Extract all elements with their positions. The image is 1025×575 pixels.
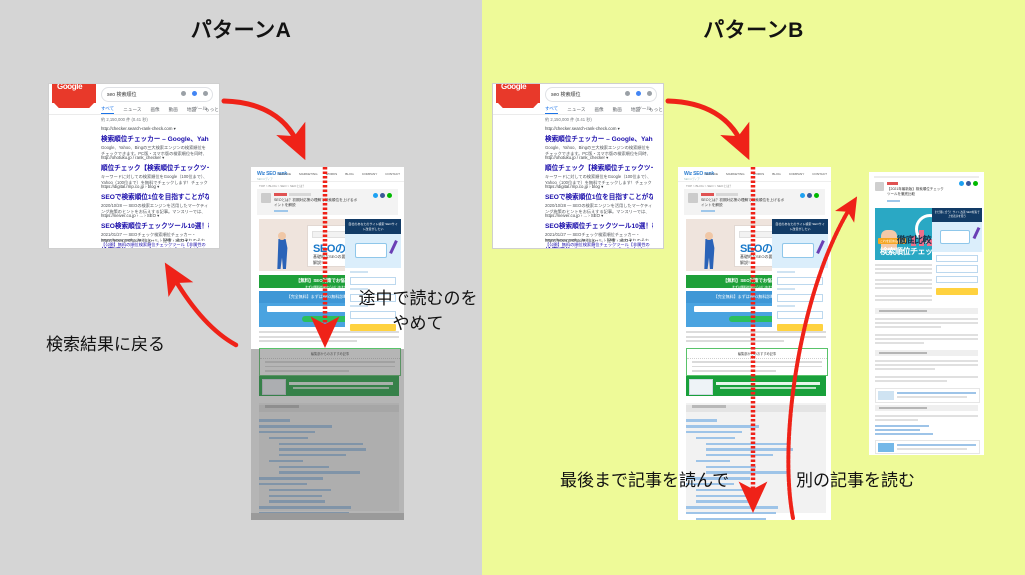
speech-bubble-icon <box>782 243 814 258</box>
serp-result-title[interactable]: 順位チェック【検索順位チェックツール】｜SEO ... - ohotuku <box>545 162 653 172</box>
serp-tab-images[interactable]: 画像 <box>150 107 159 113</box>
serp-result-title[interactable]: 検索順位チェッカー – Google、Yahoo、Bingの検索順位を ... <box>545 133 653 143</box>
article-date <box>274 210 288 213</box>
nav-item-service[interactable]: SERVICE <box>278 172 292 176</box>
nav-item-contact[interactable]: CONTACT <box>812 172 827 176</box>
serp-header-b: Google seo 検索順位 すべて ニュース 画像 動画 地図 もっと見る … <box>493 84 663 110</box>
text-line <box>875 334 978 336</box>
comparison-section-heading-3 <box>875 405 978 411</box>
text-line <box>259 340 357 342</box>
serp-divider <box>493 114 663 115</box>
serp-result-url: http://checker.search-rank-check.com ▾ <box>101 126 209 132</box>
nav-item-contact[interactable]: CONTACT <box>385 172 400 176</box>
serp-result-title[interactable]: SEOで検索順位1位を目指すことがなぜ無意味なのか ... <box>101 191 209 201</box>
text-line <box>875 364 978 366</box>
banner-thumbnail <box>689 379 713 395</box>
line-icon[interactable] <box>387 193 392 198</box>
article-nav-menu[interactable]: SERVICE MARKETING WORKS BLOG COMPANY CON… <box>278 172 400 176</box>
nav-item-marketing[interactable]: MARKETING <box>299 172 317 176</box>
article-social-icons[interactable] <box>800 193 819 198</box>
article-logo-sub: SEOメディア <box>684 177 700 181</box>
toc-item[interactable] <box>706 448 793 450</box>
comparison-sidebar-input[interactable] <box>936 255 978 263</box>
serp-result-url: http://checker.search-rank-check.com ▾ <box>545 126 653 132</box>
serp-tab-all[interactable]: すべて <box>545 106 558 114</box>
serp-result-url: https://neiver.co.jp › ... › SEO ▾ <box>101 213 209 219</box>
text-line <box>686 336 826 338</box>
article-category-badge <box>274 193 287 196</box>
comparison-article-screenshot[interactable]: 【2021年最新版】検索順位チェックツールを徹底比較 これを読めば解決 徹底比較… <box>869 172 984 455</box>
article-tag-badge <box>716 193 738 196</box>
toc-item[interactable] <box>706 443 790 445</box>
panel-b-title: パターンB <box>482 14 1025 44</box>
serp-result-title[interactable]: SEOで検索順位1位を目指すことがなぜ無意味なのか ... <box>545 191 653 201</box>
nav-item-marketing[interactable]: MARKETING <box>726 172 744 176</box>
line-icon[interactable] <box>814 193 819 198</box>
serp-result-2[interactable]: http://ohotuku.jp / rank_checker ▾ 順位チェッ… <box>101 155 209 187</box>
comparison-paragraph-4 <box>875 318 978 331</box>
facebook-icon[interactable] <box>966 181 971 186</box>
caption-read-to-end: 最後まで記事を読んで <box>560 468 729 494</box>
facebook-icon[interactable] <box>807 193 812 198</box>
google-serp-screenshot-b[interactable]: Google seo 検索順位 すべて ニュース 画像 動画 地図 もっと見る … <box>492 83 664 249</box>
text-line <box>875 342 924 344</box>
comparison-list <box>875 425 978 438</box>
toc-heading-label <box>692 405 726 408</box>
nav-item-company[interactable]: COMPANY <box>362 172 377 176</box>
mic-icon[interactable] <box>636 91 641 96</box>
text-line <box>692 366 822 368</box>
text-line <box>875 368 935 370</box>
article-title: SEOとは？初期対応策の理解で検索順位を上げるポイントを解説 <box>274 198 358 209</box>
sidebar-illustration <box>772 234 828 268</box>
serp-tab-news[interactable]: ニュース <box>567 107 585 113</box>
serp-search-icons[interactable] <box>625 91 652 96</box>
clear-icon[interactable] <box>181 91 186 96</box>
comparison-paragraph-7 <box>875 376 978 384</box>
unread-dim-overlay <box>251 349 404 520</box>
serp-tools-button[interactable]: ツール <box>637 106 651 112</box>
google-serp-screenshot-a[interactable]: Google seo 検索順位 すべて ニュース 画像 動画 地図 もっと見る … <box>48 83 220 249</box>
related-card-title <box>897 392 976 394</box>
toc-item[interactable] <box>686 506 778 508</box>
nav-item-service[interactable]: SERVICE <box>705 172 719 176</box>
comparison-topbar <box>874 176 979 178</box>
comparison-sidebar-button[interactable] <box>936 288 978 295</box>
text-line <box>875 419 918 421</box>
comparison-paragraph-6 <box>875 360 978 373</box>
toc-list[interactable] <box>686 412 826 520</box>
serp-result-3[interactable]: https://digital.rmp.co.jp › blog ▾ SEOで検… <box>101 184 209 216</box>
comparison-section-heading-2 <box>875 350 978 356</box>
comparison-related-card-1[interactable] <box>875 388 980 403</box>
article-breadcrumb[interactable]: TOP > BLOG > SEO > SEOとは？ <box>259 184 305 188</box>
sidebar-heading: 自社のあなたのサイト検索 SEOサイト改善がしたい <box>772 219 828 234</box>
text-line <box>875 415 978 417</box>
serp-tab-more[interactable]: もっと見る <box>205 107 220 113</box>
serp-search-icons[interactable] <box>181 91 208 96</box>
comparison-section-heading-1 <box>875 308 978 314</box>
related-card-image <box>878 391 894 400</box>
serp-tab-news[interactable]: ニュース <box>123 107 141 113</box>
comparison-thumb-icon <box>875 182 884 191</box>
caption-read-another: 別の記事を読む <box>796 468 915 494</box>
serp-result-3[interactable]: https://digital.rmp.co.jp › blog ▾ SEOで検… <box>545 184 653 216</box>
google-logo-icon: Google <box>496 83 540 103</box>
text-line <box>875 380 947 382</box>
article-navbar: Wiz SEO rank SEOメディア SERVICE MARKETING W… <box>678 167 831 182</box>
pen-icon <box>816 240 825 254</box>
mic-icon[interactable] <box>192 91 197 96</box>
serp-result-5[interactable]: https://www.profuture.co.jp › ... › 記事 ›… <box>101 238 209 249</box>
person-illustration-icon <box>273 239 291 269</box>
text-line <box>692 361 822 363</box>
article-thumb-icon <box>688 193 698 203</box>
serp-result-url: https://neiver.co.jp › ... › SEO ▾ <box>545 213 653 219</box>
serp-query-text: seo 検索順位 <box>107 91 136 98</box>
sidebar-heading: 自社のあなたのサイト検索 SEOサイト改善がしたい <box>345 219 401 234</box>
twitter-icon[interactable] <box>373 193 378 198</box>
nav-item-blog[interactable]: BLOG <box>345 172 354 176</box>
comparison-date <box>887 200 900 202</box>
serp-result-title[interactable]: 検索順位チェックツールおすすめの10選｜MarkeTRUNK <box>545 245 653 249</box>
toc-item[interactable] <box>706 454 773 456</box>
serp-result-url: https://digital.rmp.co.jp › blog ▾ <box>101 184 209 190</box>
twitter-icon[interactable] <box>800 193 805 198</box>
article-paragraph-1 <box>686 331 826 345</box>
serp-result-stats: 約 2,150,000 件 (0.41 秒) <box>545 117 592 123</box>
article-sidebar[interactable]: 自社のあなたのサイト検索 SEOサイト改善がしたい <box>772 219 828 327</box>
article-table-of-contents[interactable] <box>686 403 826 513</box>
comparison-sidebar-heading: まだ間に合う！サイト改善 SEO対策で上位表示を狙う <box>932 208 982 222</box>
article-recommend-box[interactable]: 編集部からのおすすめ記事 <box>686 348 828 376</box>
banner-text-line <box>720 387 816 389</box>
toc-heading <box>686 405 826 412</box>
twitter-icon[interactable] <box>959 181 964 186</box>
list-item <box>875 429 920 431</box>
text-line <box>875 272 937 274</box>
banner-text-line <box>716 382 820 385</box>
article-nav-menu[interactable]: SERVICE MARKETING WORKS BLOG COMPANY CON… <box>705 172 827 176</box>
article-download-banner[interactable] <box>686 376 826 396</box>
serp-search-input-b[interactable]: seo 検索順位 <box>545 87 657 102</box>
sidebar-field-label <box>777 305 795 307</box>
text-line <box>875 318 978 320</box>
comparison-paragraph-5 <box>875 334 978 347</box>
serp-result-5[interactable]: https://www.profuture.co.jp › ... › 記事 ›… <box>545 238 653 249</box>
serp-result-title[interactable]: 検索順位チェックツールおすすめの10選｜MarkeTRUNK <box>101 245 209 249</box>
toc-item[interactable] <box>686 431 742 433</box>
sidebar-submit-button[interactable] <box>777 324 823 331</box>
comparison-badge <box>887 182 898 185</box>
serp-result-title[interactable]: SEO検索順位チェックツール10選！機能や料金を徹底比較 <box>545 220 653 230</box>
search-icon[interactable] <box>647 91 652 96</box>
related-card-desc <box>897 448 967 450</box>
toc-item[interactable] <box>686 425 759 427</box>
serp-result-title[interactable]: SEO検索順位チェックツール10選！機能や料金を徹底比較 <box>101 220 209 230</box>
serp-header-a: Google seo 検索順位 すべて ニュース 画像 動画 地図 もっと見る … <box>49 84 219 110</box>
section-heading-label <box>879 310 927 312</box>
comparison-sidebar-input[interactable] <box>936 276 978 284</box>
serp-divider <box>49 114 219 115</box>
comparison-social-icons[interactable] <box>959 181 978 186</box>
serp-result-url: https://www.profuture.co.jp › ... › 記事 ›… <box>101 238 209 244</box>
text-line <box>875 360 978 362</box>
article-date <box>701 210 715 213</box>
article-thumb-icon <box>261 193 271 203</box>
serp-result-url: https://www.profuture.co.jp › ... › 記事 ›… <box>545 238 653 244</box>
serp-result-1[interactable]: http://checker.search-rank-check.com ▾ 検… <box>101 126 209 158</box>
screenshot-footer-bar <box>251 513 404 520</box>
toc-item[interactable] <box>686 419 717 421</box>
related-card-desc <box>897 396 967 398</box>
sidebar-field-label <box>777 288 795 290</box>
list-item <box>875 433 933 435</box>
toc-item[interactable] <box>696 495 749 497</box>
serp-query-text: seo 検索順位 <box>551 91 580 98</box>
google-logo-icon: Google <box>52 83 96 103</box>
person-illustration-icon <box>700 239 718 269</box>
article-header-card: SEOとは？初期対応策の理解で検索順位を上げるポイントを解説 <box>257 189 398 215</box>
pen-icon <box>389 240 398 254</box>
sidebar-input[interactable] <box>350 277 396 285</box>
comparison-paragraph-8 <box>875 415 978 423</box>
google-logo-label: Google <box>501 83 526 91</box>
caption-back-to-serp: 検索結果に戻る <box>46 332 165 358</box>
speech-bubble-icon <box>355 243 387 258</box>
article-title: SEOとは？初期対応策の理解で検索順位を上げるポイントを解説 <box>701 198 785 209</box>
text-line <box>875 338 978 340</box>
sidebar-input[interactable] <box>777 277 823 285</box>
facebook-icon[interactable] <box>380 193 385 198</box>
related-card-title <box>897 444 976 446</box>
text-line <box>875 322 978 324</box>
text-line <box>875 299 932 301</box>
slide-canvas: パターンA パターンB Google seo 検索順位 すべて ニュース 画像 <box>0 0 1025 575</box>
pen-icon <box>972 227 979 239</box>
list-item <box>875 425 929 427</box>
person-head-icon <box>705 232 713 240</box>
article-social-icons[interactable] <box>373 193 392 198</box>
nav-item-works[interactable]: WORKS <box>326 172 338 176</box>
serp-result-title[interactable]: 検索順位チェッカー – Google、Yahoo、Bingの検索順位を ... <box>101 133 209 143</box>
line-icon[interactable] <box>973 181 978 186</box>
comparison-sidebar[interactable]: まだ間に合う！サイト改善 SEO対策で上位表示を狙う <box>932 208 982 304</box>
toc-item[interactable] <box>696 500 752 502</box>
section-heading-label <box>879 407 927 409</box>
text-line <box>686 331 826 333</box>
serp-result-title[interactable]: 順位チェック【検索順位チェックツール】｜SEO ... - ohotuku <box>101 162 209 172</box>
serp-tab-images[interactable]: 画像 <box>594 107 603 113</box>
nav-item-works[interactable]: WORKS <box>753 172 765 176</box>
serp-search-input-a[interactable]: seo 検索順位 <box>101 87 213 102</box>
article-header-card: SEOとは？初期対応策の理解で検索順位を上げるポイントを解説 <box>684 189 825 215</box>
sidebar-illustration <box>345 234 401 268</box>
serp-result-url: http://ohotuku.jp / rank_checker ▾ <box>545 155 653 161</box>
sidebar-field-label <box>350 271 368 273</box>
article-category-badge <box>701 193 714 196</box>
toc-item[interactable] <box>686 512 776 514</box>
comparison-sidebar-input[interactable] <box>936 265 978 273</box>
article-tag-badge <box>289 193 311 196</box>
article-breadcrumb[interactable]: TOP > BLOG > SEO > SEOとは？ <box>686 184 732 188</box>
clear-icon[interactable] <box>625 91 630 96</box>
text-line <box>686 340 784 342</box>
related-card-image <box>878 443 894 452</box>
toc-item[interactable] <box>696 437 735 439</box>
nav-item-company[interactable]: COMPANY <box>789 172 804 176</box>
google-logo-label: Google <box>57 83 82 91</box>
speech-bubble-icon <box>940 230 970 244</box>
serp-result-url: https://digital.rmp.co.jp › blog ▾ <box>545 184 653 190</box>
article-screenshot-a[interactable]: Wiz SEO rank SEOメディア SERVICE MARKETING W… <box>251 167 404 520</box>
comparison-related-card-2[interactable] <box>875 440 980 454</box>
comparison-sidebar-illustration <box>932 222 982 252</box>
sidebar-input[interactable] <box>777 311 823 319</box>
article-navbar: Wiz SEO rank SEOメディア SERVICE MARKETING W… <box>251 167 404 182</box>
text-line <box>875 376 978 378</box>
article-logo-sub: SEOメディア <box>257 177 273 181</box>
toc-item[interactable] <box>696 460 730 462</box>
sidebar-field-label <box>777 271 795 273</box>
serp-tab-videos[interactable]: 動画 <box>169 107 178 113</box>
panel-a-title: パターンA <box>0 14 482 44</box>
section-heading-label <box>879 352 927 354</box>
serp-result-1[interactable]: http://checker.search-rank-check.com ▾ 検… <box>545 126 653 158</box>
serp-tab-more[interactable]: もっと見る <box>649 107 664 113</box>
nav-item-blog[interactable]: BLOG <box>772 172 781 176</box>
serp-tab-videos[interactable]: 動画 <box>613 107 622 113</box>
serp-result-url: http://ohotuku.jp / rank_checker ▾ <box>101 155 209 161</box>
sidebar-input[interactable] <box>777 294 823 302</box>
search-icon[interactable] <box>203 91 208 96</box>
text-line <box>875 326 941 328</box>
person-head-icon <box>278 232 286 240</box>
recommend-box-title: 編集部からのおすすめ記事 <box>687 349 827 359</box>
serp-result-stats: 約 2,150,000 件 (0.41 秒) <box>101 117 148 123</box>
serp-result-2[interactable]: http://ohotuku.jp / rank_checker ▾ 順位チェッ… <box>545 155 653 187</box>
caption-stop-reading: 途中で読むのをやめて <box>354 287 482 336</box>
serp-tools-button[interactable]: ツール <box>193 106 207 112</box>
text-line <box>692 370 776 372</box>
toc-item[interactable] <box>696 518 766 520</box>
comparison-title: 【2021年最新版】検索順位チェックツールを徹底比較 <box>887 187 946 198</box>
serp-tab-all[interactable]: すべて <box>101 106 114 114</box>
